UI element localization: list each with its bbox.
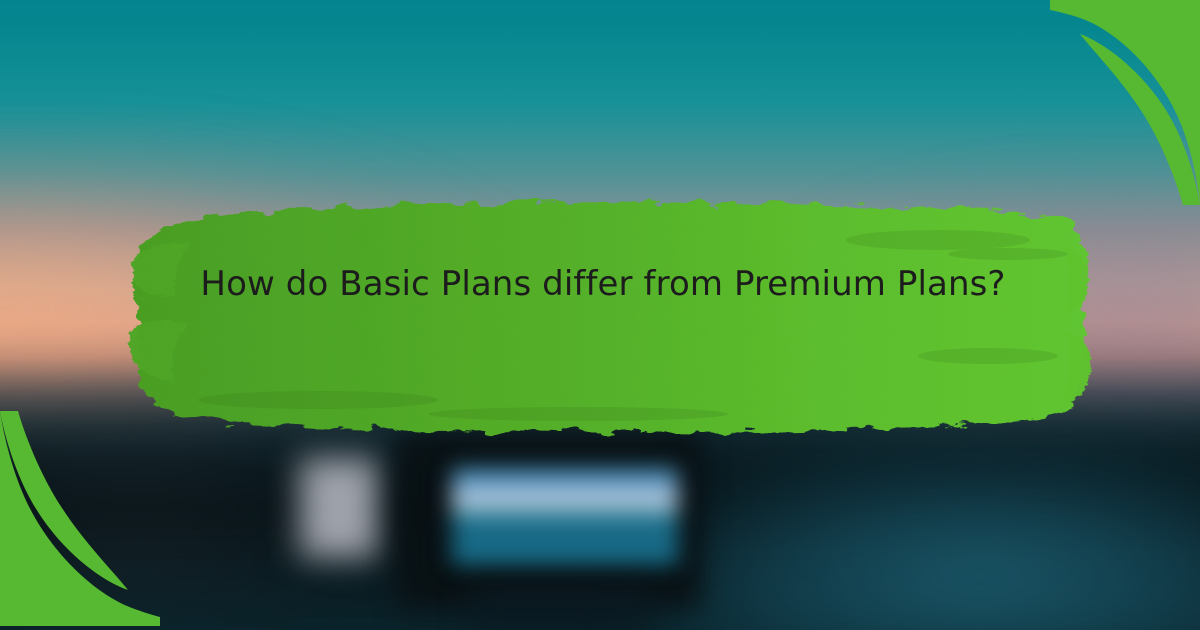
background-monitor-screen-blur (452, 468, 678, 564)
brush-stroke-highlight (108, 192, 1098, 440)
brush-stroke-svg (108, 192, 1098, 440)
background-panel-blur (300, 458, 378, 558)
background-stand-blur (470, 588, 650, 630)
background-water-glow (640, 450, 1200, 630)
faq-banner: How do Basic Plans differ from Premium P… (0, 0, 1200, 630)
page-title: How do Basic Plans differ from Premium P… (150, 256, 1056, 312)
